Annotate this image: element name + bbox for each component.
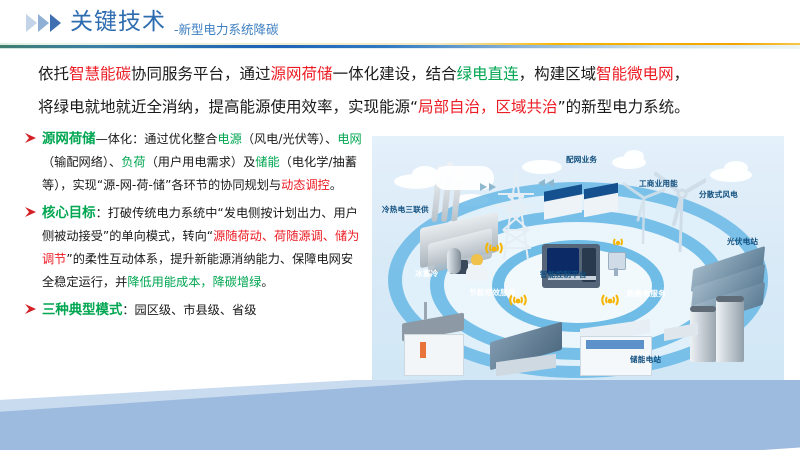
text-run: ：园区级、市县级、省级 <box>122 303 256 317</box>
text-run: 将绿电就地就近全消纳，提高能源使用效率，实现能源“ <box>38 98 418 116</box>
text-run: 协同服务平台，通过 <box>131 65 271 83</box>
text-run: —体化：通过优化整合 <box>96 132 218 146</box>
text-run: 储能 <box>255 155 279 169</box>
header-rule-pale <box>0 48 800 50</box>
text-run: ”的新型电力系统。 <box>558 98 690 116</box>
text-run: 局部自治，区域共治 <box>418 98 558 116</box>
text-run: 负荷 <box>121 155 145 169</box>
page-title: 关键技术 <box>70 7 166 37</box>
diagram-label: 光伏停车棚+充电桩 <box>511 383 580 394</box>
bullet-text: 源网荷储—体化：通过优化整合电源（风电/光伏等）、电网（输配网络）、负荷（用户用… <box>42 128 364 197</box>
smart-microgrid-ecosystem-illustration: 配网业务工商业用能分散式风电冷热电三联供光伏电站智能控制平台冰蓄冷节能增效服务购… <box>372 136 784 412</box>
flow-arrow-icon <box>480 180 498 198</box>
text-run: （输配网络）、 <box>42 155 121 169</box>
bullet-item: 三种典型模式：园区级、市县级、省级 <box>24 299 364 322</box>
diagram-label: 工商业用能 <box>639 178 678 189</box>
text-run: 绿电直连 <box>457 65 519 83</box>
diagram-label: 生物质能 <box>703 383 734 394</box>
text-run: 智能微电网 <box>596 65 674 83</box>
bullet-heading: 核心目标 <box>42 206 96 221</box>
text-run: ，构建区域 <box>519 65 597 83</box>
diagram-label: 冷热电三联供 <box>382 204 429 215</box>
bullet-list: 源网荷储—体化：通过优化整合电源（风电/光伏等）、电网（输配网络）、负荷（用户用… <box>24 128 364 327</box>
intro-line-1: 依托智慧能碳协同服务平台，通过源网荷储一体化建设，结合绿电直连，构建区域智能微电… <box>38 58 768 91</box>
diagram-label: 智能控制平台 <box>540 269 587 280</box>
operator-body-icon <box>466 265 488 281</box>
text-run: 源网荷储 <box>271 65 333 83</box>
storage-station-sign <box>586 340 644 349</box>
triple-chevron-right-icon <box>26 14 61 32</box>
diagram-label: 光伏电站 <box>727 236 758 247</box>
cooling-tower-rim <box>716 296 744 302</box>
diagram-label: 节能增效服务 <box>469 287 516 298</box>
arrow-bullet-icon <box>24 301 38 315</box>
meter-stand <box>614 268 618 276</box>
slide-canvas: 关键技术 -新型电力系统降碳 依托智慧能碳协同服务平台，通过源网荷储一体化建设，… <box>0 0 800 450</box>
diagram-label: 储能电站 <box>630 354 661 365</box>
cooling-tower-icon <box>716 298 744 362</box>
text-run: 电源 <box>217 132 241 146</box>
intro-line-2: 将绿电就地就近全消纳，提高能源使用效率，实现能源“局部自治，区域共治”的新型电力… <box>38 91 768 124</box>
page-subtitle: -新型电力系统降碳 <box>174 19 279 38</box>
bullet-heading: 三种典型模式 <box>42 303 122 318</box>
diagram-label: 分散式风电 <box>699 189 738 200</box>
diagram-label: 综合用能 <box>399 383 430 394</box>
text-run: 一体化建设，结合 <box>333 65 457 83</box>
arrow-bullet-icon <box>24 130 38 144</box>
house-door-icon <box>420 342 426 358</box>
text-run: 电网 <box>337 132 361 146</box>
bullet-item: 核心目标：打破传统电力系统中“发电侧按计划出力、用户侧被动接受”的单向模式，转向… <box>24 202 364 294</box>
signal-wave-icon <box>600 294 620 317</box>
cloud-icon <box>724 161 748 175</box>
ice-storage-tank-icon <box>447 248 461 274</box>
bullet-item: 源网荷储—体化：通过优化整合电源（风电/光伏等）、电网（输配网络）、负荷（用户用… <box>24 128 364 197</box>
diagram-label: 冰蓄冷 <box>415 268 438 279</box>
cooling-tower-rim <box>690 306 716 312</box>
signal-wave-icon <box>484 242 504 265</box>
text-run: 动态调控 <box>281 178 330 192</box>
text-run: 。 <box>261 275 273 289</box>
bullet-heading: 源网荷储 <box>42 132 96 147</box>
arrow-bullet-icon <box>24 204 38 218</box>
utility-pole-icon <box>424 302 427 320</box>
text-run: 。 <box>330 178 342 192</box>
diagram-label: 购售电服务 <box>627 288 666 299</box>
bullet-text: 核心目标：打破传统电力系统中“发电侧按计划出力、用户侧被动接受”的单向模式，转向… <box>42 202 364 294</box>
text-run: 降低用能成本，降碳增绿 <box>127 275 261 289</box>
text-run: ， <box>674 65 690 83</box>
house-body-icon <box>404 334 464 376</box>
diagram-label: 配网业务 <box>566 154 597 165</box>
flow-arrow-icon <box>536 176 554 194</box>
text-run: 智慧能碳 <box>69 65 131 83</box>
text-run: （风电/光伏等）、 <box>242 132 338 146</box>
intro-paragraph: 依托智慧能碳协同服务平台，通过源网荷储一体化建设，结合绿电直连，构建区域智能微电… <box>38 58 768 124</box>
signal-wave-icon <box>608 236 628 259</box>
slide-header: 关键技术 -新型电力系统降碳 <box>0 0 800 52</box>
text-run: （用户用电需求）及 <box>146 155 256 169</box>
cloud-icon <box>624 150 644 163</box>
bullet-text: 三种典型模式：园区级、市县级、省级 <box>42 299 364 322</box>
text-run: 依托 <box>38 65 69 83</box>
